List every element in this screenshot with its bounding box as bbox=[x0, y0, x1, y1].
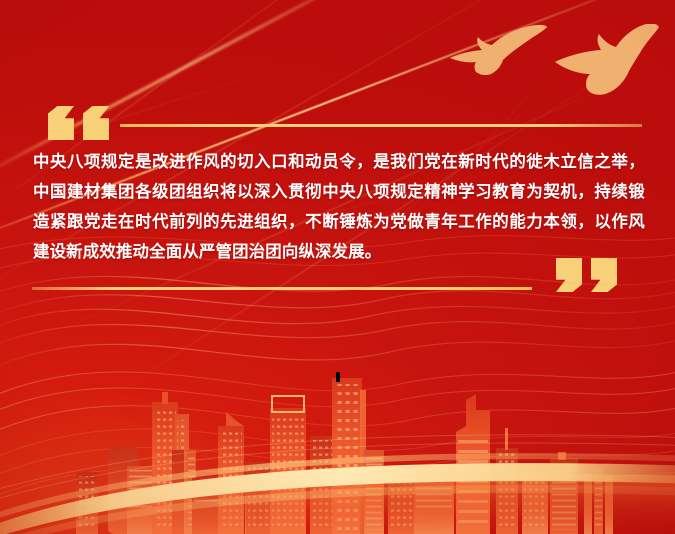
quote-close-icon bbox=[556, 258, 617, 292]
quote-body-text: 中央八项规定是改进作风的切入口和动员令，是我们党在新时代的徙木立信之举，中国建材… bbox=[33, 147, 645, 267]
poster-canvas: 中央八项规定是改进作风的切入口和动员令，是我们党在新时代的徙木立信之举，中国建材… bbox=[0, 0, 675, 534]
divider-top bbox=[120, 124, 642, 127]
quote-open-icon bbox=[48, 106, 109, 140]
dove-right bbox=[553, 24, 673, 96]
divider-bottom bbox=[32, 287, 532, 290]
dove-left bbox=[448, 24, 548, 76]
